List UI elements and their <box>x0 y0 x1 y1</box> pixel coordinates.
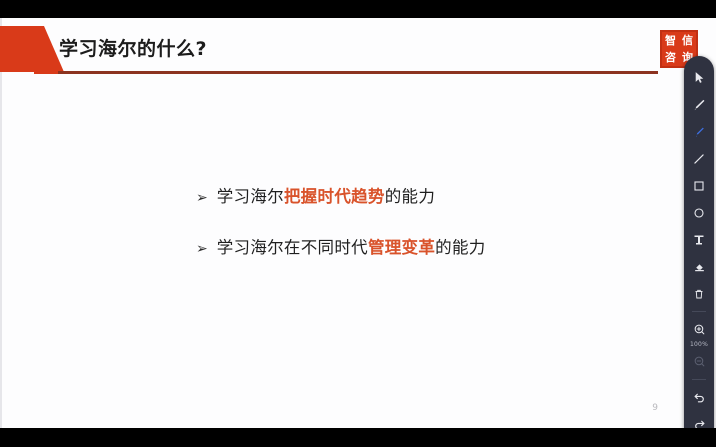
letterbox-bottom <box>0 428 716 447</box>
zoom-in-icon[interactable] <box>686 317 712 342</box>
pen-icon[interactable] <box>686 92 712 117</box>
slide-canvas[interactable]: 学习海尔的什么? 智 信 咨 询 ➢ 学习海尔把握时代趋势的能力 ➢ 学习海尔在… <box>0 18 716 428</box>
bullet-list: ➢ 学习海尔把握时代趋势的能力 ➢ 学习海尔在不同时代管理变革的能力 <box>196 183 636 285</box>
bullet-highlight-text: 管理变革 <box>368 238 435 257</box>
seal-char-1: 智 <box>665 35 676 46</box>
undo-icon[interactable] <box>686 385 712 410</box>
title-accent-shape <box>0 26 64 72</box>
line-icon[interactable] <box>686 146 712 171</box>
eraser-icon[interactable] <box>686 254 712 279</box>
list-item: ➢ 学习海尔把握时代趋势的能力 <box>196 183 636 207</box>
bullet-highlight-text: 把握时代趋势 <box>284 187 385 206</box>
screen: 学习海尔的什么? 智 信 咨 询 ➢ 学习海尔把握时代趋势的能力 ➢ 学习海尔在… <box>0 0 716 447</box>
bullet-text: 学习海尔在不同时代管理变革的能力 <box>217 234 486 258</box>
toolbar-divider <box>692 379 706 380</box>
slide-title-band: 学习海尔的什么? <box>0 18 716 80</box>
annotation-toolbar[interactable]: 100% <box>684 56 714 446</box>
bullet-lead-text: 学习海尔在不同时代 <box>217 238 368 257</box>
square-icon[interactable] <box>686 173 712 198</box>
title-underline-cap <box>34 68 58 74</box>
toolbar-divider <box>692 311 706 312</box>
bullet-lead-text: 学习海尔 <box>217 187 284 206</box>
seal-char-3: 咨 <box>665 52 676 63</box>
trash-icon[interactable] <box>686 281 712 306</box>
bullet-arrow-icon: ➢ <box>196 242 208 256</box>
seal-char-2: 信 <box>682 35 693 46</box>
highlighter-icon[interactable] <box>686 119 712 144</box>
page-title: 学习海尔的什么? <box>59 34 207 61</box>
list-item: ➢ 学习海尔在不同时代管理变革的能力 <box>196 234 636 258</box>
bullet-tail-text: 的能力 <box>385 187 435 206</box>
page-number: 9 <box>652 403 658 413</box>
letterbox-top <box>0 0 716 18</box>
bullet-text: 学习海尔把握时代趋势的能力 <box>217 183 435 207</box>
cursor-icon[interactable] <box>686 65 712 90</box>
zoom-out-icon[interactable] <box>686 349 712 374</box>
bullet-tail-text: 的能力 <box>435 238 485 257</box>
zoom-level-label: 100% <box>690 342 708 348</box>
text-icon[interactable] <box>686 227 712 252</box>
title-underline-rule <box>36 71 658 74</box>
circle-icon[interactable] <box>686 200 712 225</box>
bullet-arrow-icon: ➢ <box>196 191 208 205</box>
